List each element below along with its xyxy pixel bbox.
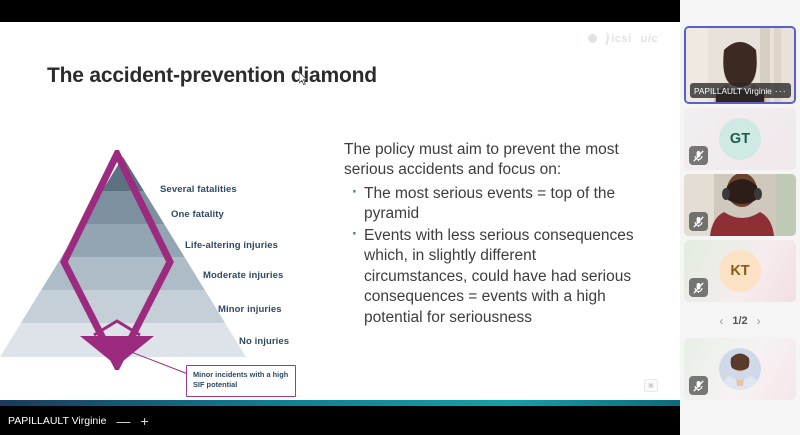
rail-pagination[interactable]: ‹ 1/2 › (684, 310, 796, 332)
participant-tile-kt[interactable]: KT (684, 240, 796, 302)
mouse-cursor (299, 72, 309, 86)
avatar-gt: GT (719, 118, 761, 160)
window-top-bar (0, 0, 680, 22)
avatar-kt: KT (719, 250, 761, 292)
pager-prev-icon[interactable]: ‹ (719, 314, 723, 328)
mic-off-icon-3 (689, 278, 708, 297)
avatar-initials-kt: KT (730, 263, 749, 279)
slide-bullet-0: The most serious events = top of the pyr… (344, 184, 636, 225)
icsi-dot-icon (588, 34, 597, 43)
shared-content-stage[interactable]: icsi uic The accident-prevention diamond (0, 22, 680, 400)
minimize-icon[interactable]: — (116, 414, 130, 428)
participant-name-text-0: PAPILLAULT Virginie (694, 86, 772, 96)
accident-pyramid-figure: Several fatalities One fatality Life-alt… (0, 132, 320, 397)
icsi-swoosh-icon (598, 32, 611, 45)
icsi-logo-text: icsi (611, 33, 631, 45)
teams-meeting-window: icsi uic The accident-prevention diamond (0, 0, 800, 435)
mic-off-icon-1 (689, 146, 708, 165)
participant-name-badge-0: PAPILLAULT Virginie ··· (690, 83, 791, 98)
participant-rail: PAPILLAULT Virginie ··· GT (680, 0, 800, 435)
slide-bullet-list: The most serious events = top of the pyr… (344, 184, 636, 328)
participant-tile-photo-4[interactable] (684, 338, 796, 400)
pager-next-icon[interactable]: › (757, 314, 761, 328)
pyramid-label-1: One fatality (171, 209, 224, 220)
camera-icon[interactable]: ▣ (644, 379, 658, 392)
taskbar-user-label: PAPILLAULT Virginie (8, 415, 106, 427)
icsi-logo: icsi (588, 32, 631, 45)
participant-tile-video-2[interactable] (684, 174, 796, 236)
more-options-icon-0[interactable]: ··· (775, 86, 787, 96)
pager-index: 1/2 (732, 315, 747, 327)
participant-tile-papillault-virginie[interactable]: PAPILLAULT Virginie ··· (684, 26, 796, 104)
slide-logos: icsi uic (588, 32, 658, 45)
pyramid-label-5: No injuries (239, 336, 289, 347)
slide-text-column: The policy must aim to prevent the most … (344, 140, 636, 329)
sif-callout-text: Minor incidents with a high SIF potentia… (193, 370, 289, 390)
pyramid-label-3: Moderate injuries (203, 270, 283, 281)
pyramid-label-2: Life-altering injuries (185, 240, 278, 251)
diamond-svg (60, 150, 175, 370)
pyramid-label-4: Minor injuries (218, 304, 282, 315)
taskbar: PAPILLAULT Virginie — + (0, 406, 680, 435)
sif-callout-box: Minor incidents with a high SIF potentia… (186, 365, 296, 397)
slide-bullet-1: Events with less serious consequences wh… (344, 226, 636, 328)
mic-off-icon-4 (689, 376, 708, 395)
participant-tile-gt[interactable]: GT (684, 108, 796, 170)
uic-logo-text: uic (641, 33, 658, 45)
mic-off-icon-2 (689, 212, 708, 231)
avatar-initials-gt: GT (730, 131, 750, 147)
slide-title: The accident-prevention diamond (47, 64, 377, 88)
diamond-overlay (60, 150, 165, 365)
pyramid-label-0: Several fatalities (160, 184, 237, 195)
slide-lead-paragraph: The policy must aim to prevent the most … (344, 140, 636, 181)
avatar-photo-4 (719, 348, 761, 390)
add-icon[interactable]: + (140, 414, 148, 428)
